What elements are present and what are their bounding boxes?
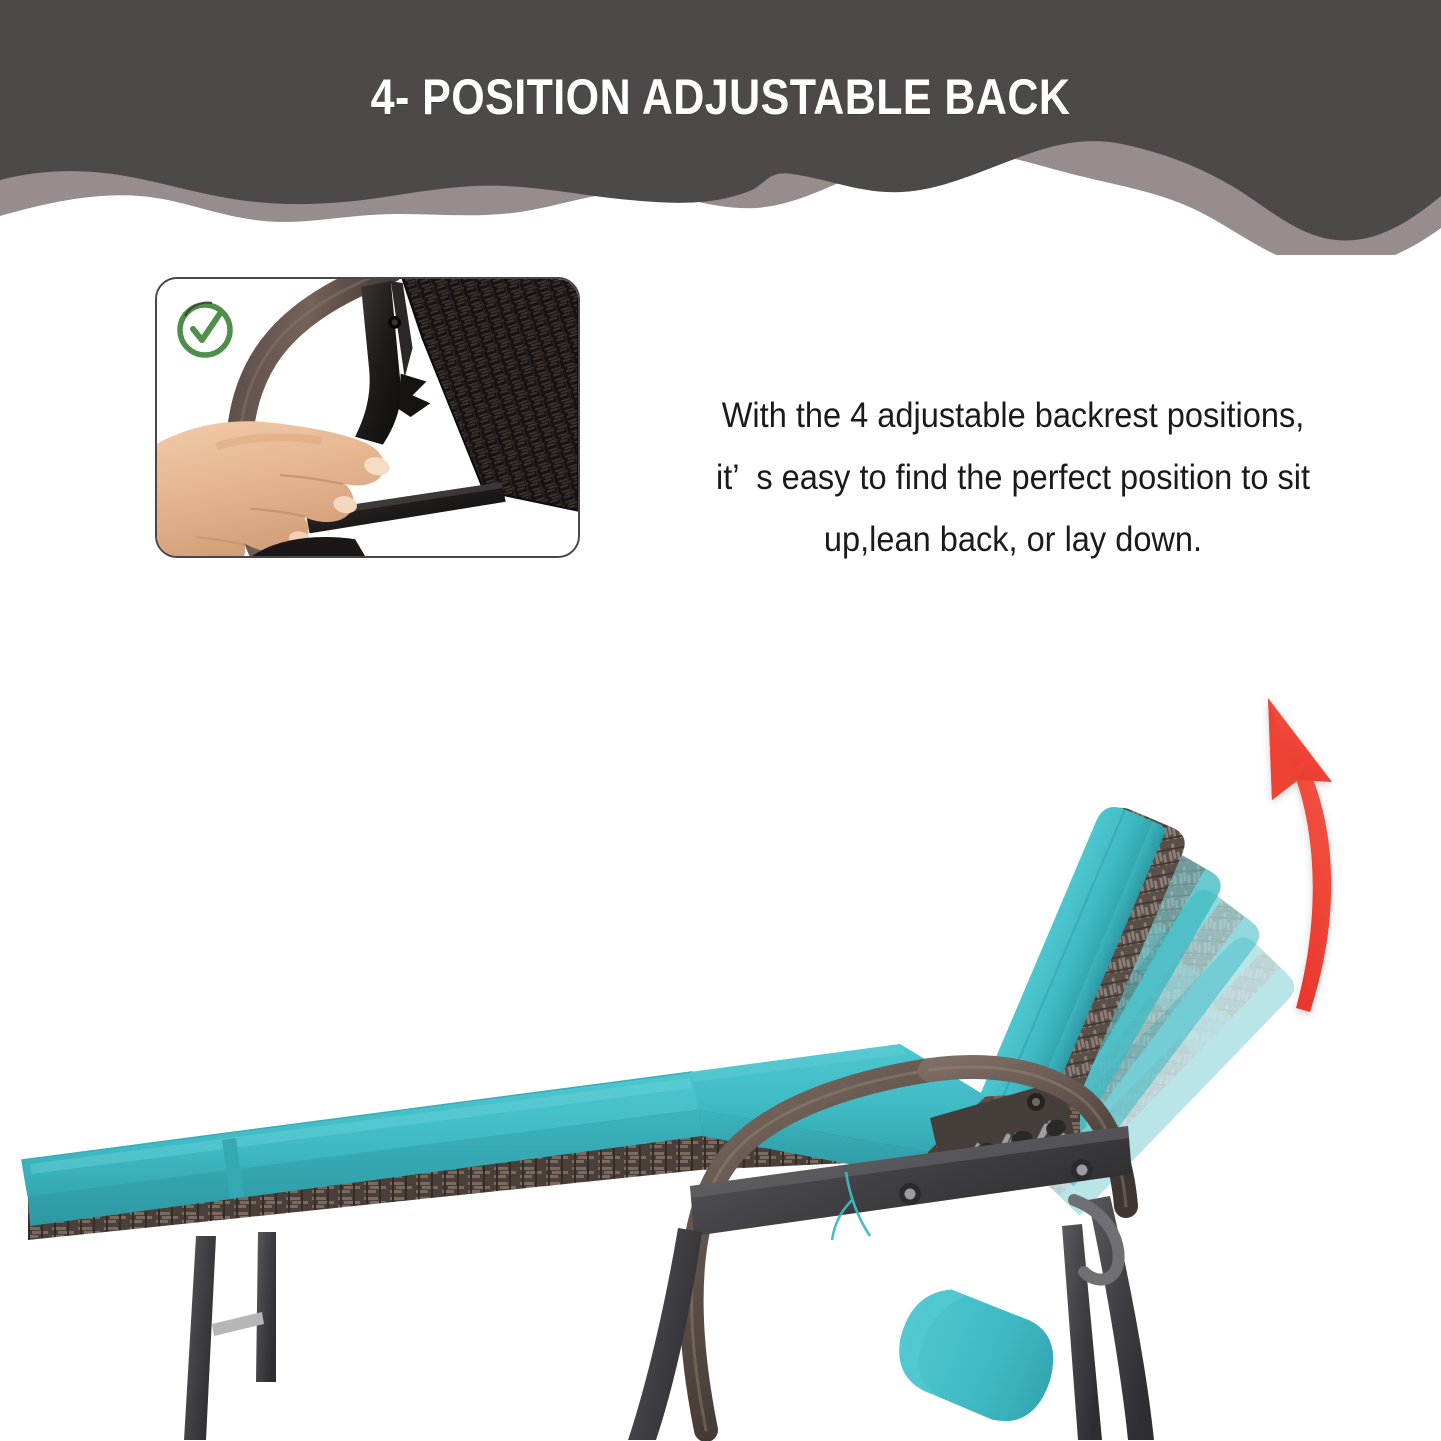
page-title: 4- POSITION ADJUSTABLE BACK — [101, 68, 1340, 126]
photo-card-correct-usage — [155, 277, 580, 558]
description-line-1: With the 4 adjustable backrest positions… — [646, 385, 1381, 447]
front-leg-inner — [256, 1232, 276, 1382]
header-wave-graphic — [0, 0, 1441, 255]
chaise-lounge-graphic — [0, 640, 1441, 1441]
check-circle-icon — [171, 295, 239, 363]
header-banner: 4- POSITION ADJUSTABLE BACK — [0, 0, 1441, 255]
description-paragraph: With the 4 adjustable backrest positions… — [646, 385, 1381, 571]
description-line-3: up,lean back, or lay down. — [646, 509, 1381, 571]
description-line-2: it’ s easy to find the perfect position … — [646, 447, 1381, 509]
product-illustration — [0, 640, 1441, 1441]
